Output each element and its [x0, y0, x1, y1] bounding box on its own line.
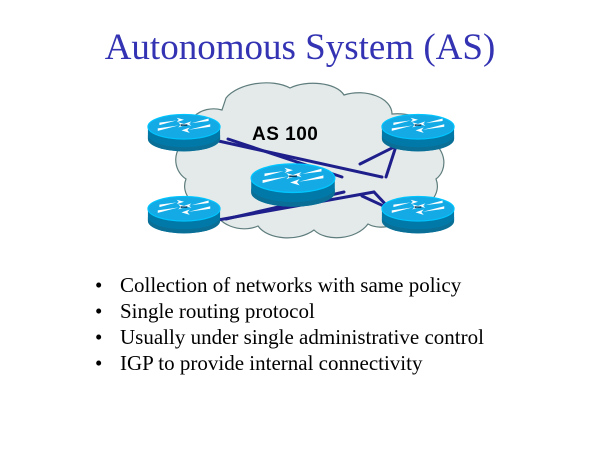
bullet-list: • Collection of networks with same polic… — [95, 272, 555, 376]
bullet-marker-icon: • — [95, 298, 115, 324]
network-diagram — [130, 82, 470, 260]
router-bottom-left — [148, 196, 220, 233]
bullet-marker-icon: • — [95, 350, 115, 376]
bullet-marker-icon: • — [95, 324, 115, 350]
router-top-right — [382, 114, 454, 151]
list-item: • Collection of networks with same polic… — [95, 272, 555, 298]
bullet-text: Collection of networks with same policy — [120, 272, 461, 298]
list-item: • Single routing protocol — [95, 298, 555, 324]
router-top-left — [148, 114, 220, 151]
bullet-text: Single routing protocol — [120, 298, 315, 324]
as-number-label: AS 100 — [252, 124, 318, 146]
list-item: • IGP to provide internal connectivity — [95, 350, 555, 376]
list-item: • Usually under single administrative co… — [95, 324, 555, 350]
bullet-text: Usually under single administrative cont… — [120, 324, 484, 350]
router-center — [251, 164, 335, 207]
bullet-text: IGP to provide internal connectivity — [120, 350, 422, 376]
bullet-marker-icon: • — [95, 272, 115, 298]
page-title: Autonomous System (AS) — [0, 26, 600, 70]
router-bottom-right — [382, 196, 454, 233]
slide-canvas: Autonomous System (AS) — [0, 0, 600, 450]
